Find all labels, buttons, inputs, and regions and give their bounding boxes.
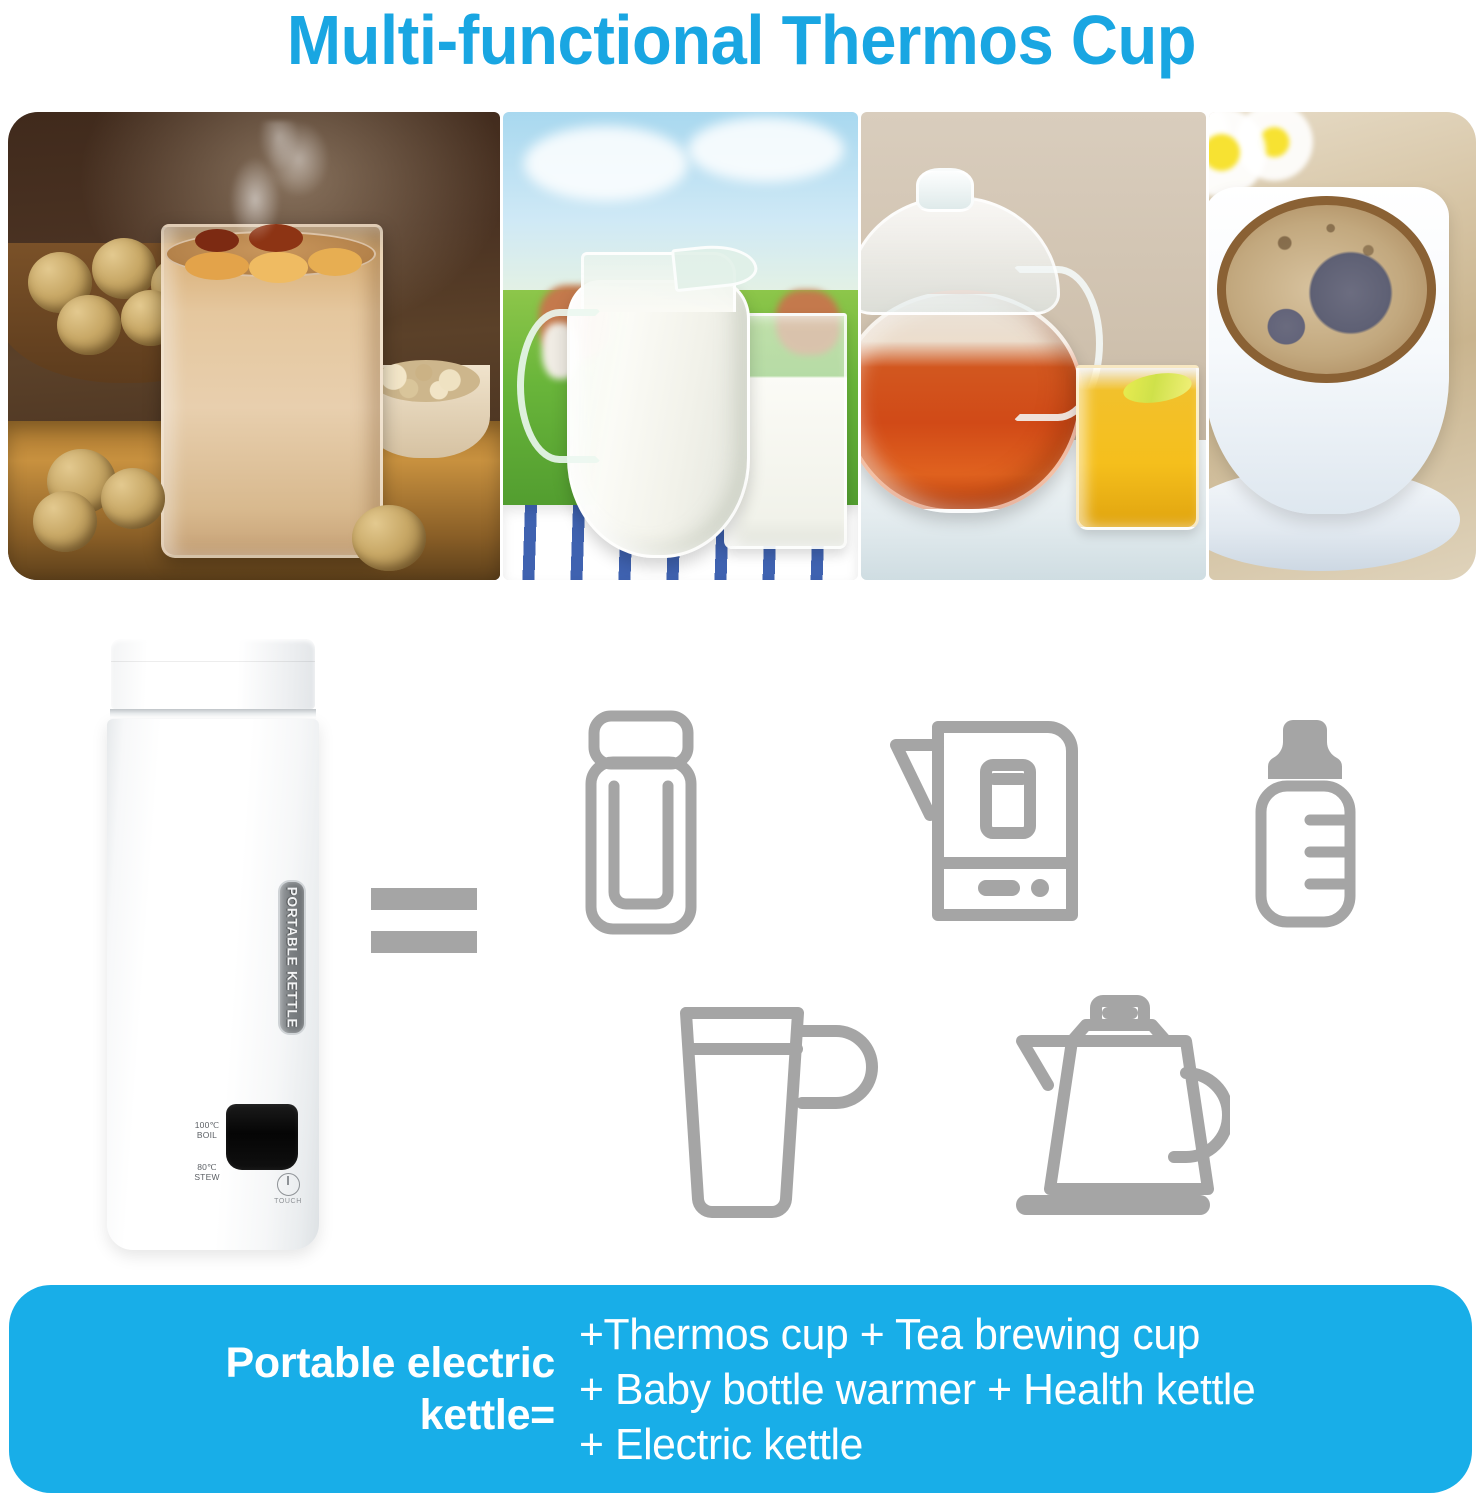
banner-right-line1: +Thermos cup + Tea brewing cup [579,1307,1445,1362]
health-kettle-icon [890,705,1080,935]
equals-bar-bottom [371,931,477,953]
kettle-mode-labels: 100℃ BOIL 80℃ STEW [186,1120,228,1182]
thermos-flask-icon [585,710,697,935]
kettle-brand-badge: PORTABLE KETTLE [278,880,306,1035]
equals-sign [371,888,477,953]
power-icon [277,1173,300,1196]
banner-left-line1: Portable electric [9,1337,555,1389]
tea-photo [861,112,1206,580]
milk-photo [503,112,858,580]
banner-left-line2: kettle= [9,1389,555,1441]
photo-strip [8,112,1476,580]
banner-right-line2: + Baby bottle warmer + Health kettle [579,1362,1445,1417]
banner-right-line3: + Electric kettle [579,1417,1445,1472]
baby-bottle-icon [1253,710,1358,930]
summary-banner: Portable electric kettle= +Thermos cup +… [9,1285,1472,1493]
equals-bar-top [371,888,477,910]
portable-electric-kettle: PORTABLE KETTLE 100℃ BOIL 80℃ STEW TOUCH [107,639,319,1250]
coffee-photo [1209,112,1476,580]
kettle-lid [111,639,315,709]
banner-equation-label: Portable electric kettle= [9,1337,565,1441]
boil-mode-label: BOIL [186,1130,228,1140]
stew-temp-label: 80℃ [186,1162,228,1172]
kettle-power-button[interactable]: TOUCH [265,1173,311,1205]
electric-kettle-icon [1000,995,1230,1227]
kettle-lcd-screen [226,1104,298,1170]
product-infographic: Multi-functional Thermos Cup [0,0,1483,1500]
page-title: Multi-functional Thermos Cup [52,2,1431,78]
banner-feature-list: +Thermos cup + Tea brewing cup + Baby bo… [565,1307,1472,1472]
milk-tea-photo [8,112,500,580]
stew-mode-label: STEW [186,1172,228,1182]
touch-label: TOUCH [265,1198,311,1205]
kettle-badge-text: PORTABLE KETTLE [285,887,300,1029]
boil-temp-label: 100℃ [186,1120,228,1130]
tea-mug-icon [672,995,882,1225]
